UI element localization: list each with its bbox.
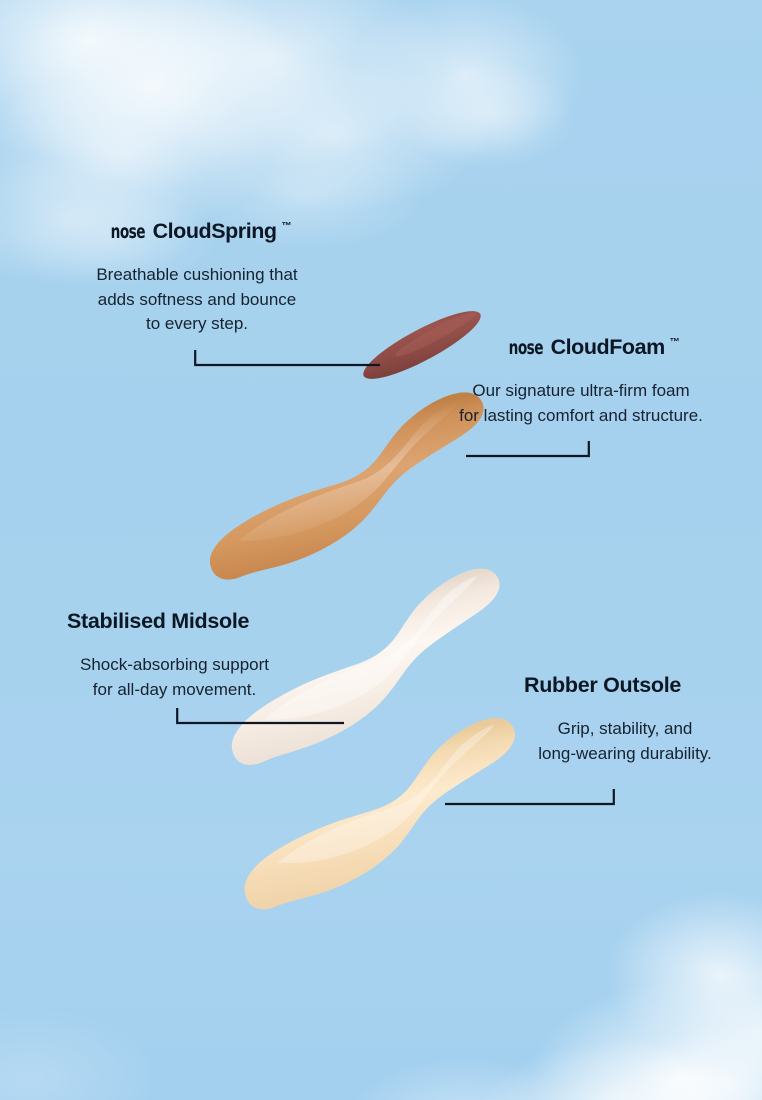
callout-rubber-outsole-description: Grip, stability, and long-wearing durabi… (505, 717, 745, 766)
trademark-icon: ™ (670, 337, 680, 348)
cloudspring-layer (352, 300, 492, 390)
callout-cloudspring-title: nose CloudSpring ™ (104, 219, 291, 244)
leader-outsole (445, 788, 615, 814)
leader-cloudfoam (466, 440, 590, 466)
nose-wordmark: nose (509, 337, 543, 359)
description-text: Our signature ultra-firm foam for lastin… (428, 379, 734, 428)
description-text: Grip, stability, and long-wearing durabi… (505, 717, 745, 766)
callout-cloudspring-description: Breathable cushioning that adds softness… (62, 263, 332, 337)
description-text: Breathable cushioning that adds softness… (62, 263, 332, 337)
callout-cloudfoam-title: nose CloudFoam ™ (502, 335, 679, 360)
section-title-rubber-outsole: Rubber Outsole (524, 673, 681, 698)
nose-wordmark: nose (111, 221, 145, 243)
section-title-stabilised-midsole: Stabilised Midsole (67, 609, 249, 634)
trademark-icon: ™ (282, 221, 292, 232)
product-name-cloudspring: CloudSpring (153, 219, 277, 244)
product-name-cloudfoam: CloudFoam (551, 335, 665, 360)
rubber-outsole-layer (235, 755, 555, 930)
callout-rubber-outsole-title: Rubber Outsole (524, 673, 681, 698)
leader-midsole (176, 706, 344, 732)
description-text: Shock-absorbing support for all-day move… (52, 653, 297, 702)
callout-stabilised-midsole-title: Stabilised Midsole (67, 609, 249, 634)
infographic-canvas: nose CloudSpring ™ Breathable cushioning… (0, 0, 762, 1100)
callout-stabilised-midsole-description: Shock-absorbing support for all-day move… (52, 653, 297, 702)
callout-cloudfoam-description: Our signature ultra-firm foam for lastin… (428, 379, 734, 428)
leader-cloudspring (194, 348, 380, 374)
